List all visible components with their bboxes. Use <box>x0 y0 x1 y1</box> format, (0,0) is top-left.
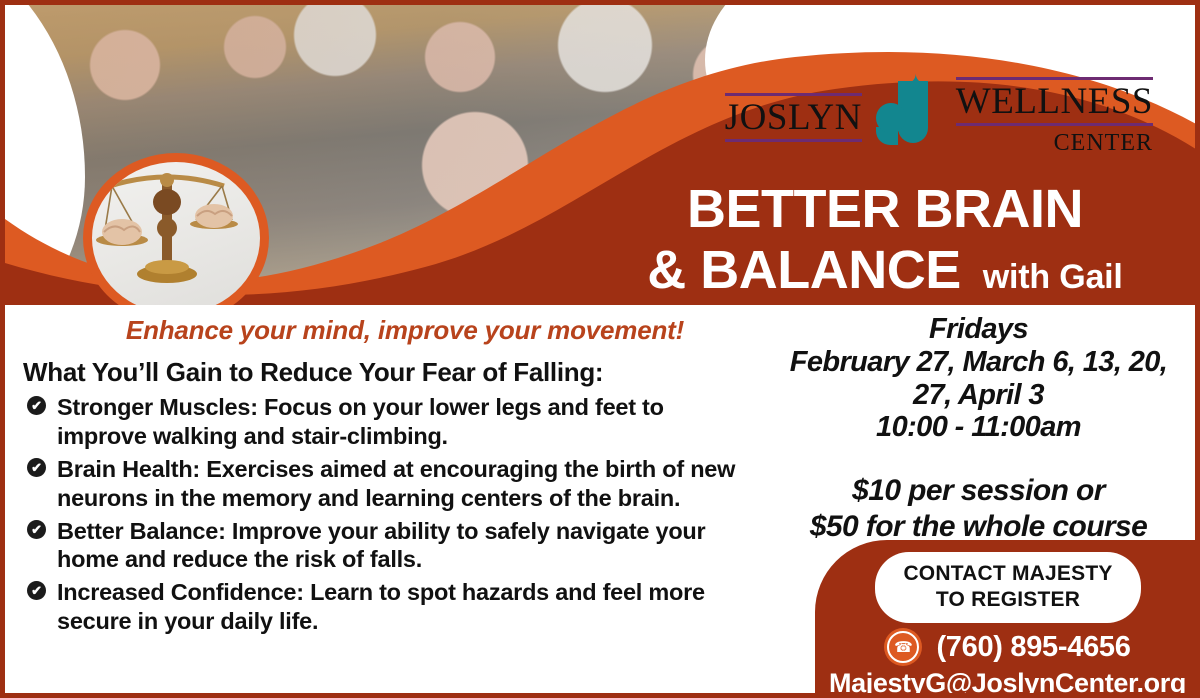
gain-heading: What You’ll Gain to Reduce Your Fear of … <box>23 357 603 388</box>
schedule-day: Fridays <box>757 313 1200 346</box>
contact-register-pill[interactable]: CONTACT MAJESTY TO REGISTER <box>875 552 1141 623</box>
price-block: $10 per session or $50 for the whole cou… <box>757 473 1200 545</box>
schedule-block: Fridays February 27, March 6, 13, 20, 27… <box>757 313 1200 444</box>
page-title: BETTER BRAIN & BALANCE with Gail <box>565 181 1200 301</box>
schedule-dates-line-2: 27, April 3 <box>757 379 1200 412</box>
check-circle-icon: ✔ <box>27 520 46 539</box>
title-line-2: & BALANCE <box>647 239 961 301</box>
logo-center-text: CENTER <box>1054 130 1153 157</box>
contact-phone-row[interactable]: ☎ (760) 895-4656 <box>815 628 1200 666</box>
check-circle-icon: ✔ <box>27 581 46 600</box>
schedule-time: 10:00 - 11:00am <box>757 411 1200 444</box>
contact-block: CONTACT MAJESTY TO REGISTER ☎ (760) 895-… <box>815 540 1200 698</box>
list-item: ✔ Increased Confidence: Learn to spot ha… <box>23 578 753 636</box>
header-banner: JOSLYN ✦ WELLNESS CENTER <box>5 5 1200 305</box>
title-line-1: BETTER BRAIN <box>565 181 1200 237</box>
contact-phone-number[interactable]: (760) 895-4656 <box>936 631 1130 664</box>
list-item: ✔ Better Balance: Improve your ability t… <box>23 517 753 575</box>
logo-joslyn-text: JOSLYN <box>725 93 862 142</box>
list-item-text: Brain Health: Exercises aimed at encoura… <box>57 456 735 511</box>
price-line-1: $10 per session or <box>757 473 1200 509</box>
flyer-root: JOSLYN ✦ WELLNESS CENTER <box>0 0 1200 698</box>
logo-wellness-text: WELLNESS <box>956 77 1153 126</box>
schedule-dates-line-1: February 27, March 6, 13, 20, <box>757 346 1200 379</box>
list-item-text: Increased Confidence: Learn to spot haza… <box>57 579 705 634</box>
joslyn-wellness-center-logo: JOSLYN ✦ WELLNESS CENTER <box>725 77 1153 157</box>
list-item-text: Stronger Muscles: Focus on your lower le… <box>57 394 664 449</box>
contact-pill-line-1: CONTACT MAJESTY <box>883 561 1133 587</box>
contact-email[interactable]: MajestyG@JoslynCenter.org <box>815 668 1200 698</box>
instructor-label: with Gail <box>983 258 1123 297</box>
check-circle-icon: ✔ <box>27 396 46 415</box>
benefits-list: ✔ Stronger Muscles: Focus on your lower … <box>23 393 753 640</box>
joslyn-j-palm-icon: ✦ <box>876 77 942 157</box>
list-item: ✔ Stronger Muscles: Focus on your lower … <box>23 393 753 451</box>
list-item-text: Better Balance: Improve your ability to … <box>57 518 705 573</box>
phone-icon: ☎ <box>884 628 922 666</box>
list-item: ✔ Brain Health: Exercises aimed at encou… <box>23 455 753 513</box>
check-circle-icon: ✔ <box>27 458 46 477</box>
balance-scale-brains-icon <box>83 153 269 305</box>
tagline: Enhance your mind, improve your movement… <box>85 315 725 346</box>
contact-pill-line-2: TO REGISTER <box>883 587 1133 613</box>
